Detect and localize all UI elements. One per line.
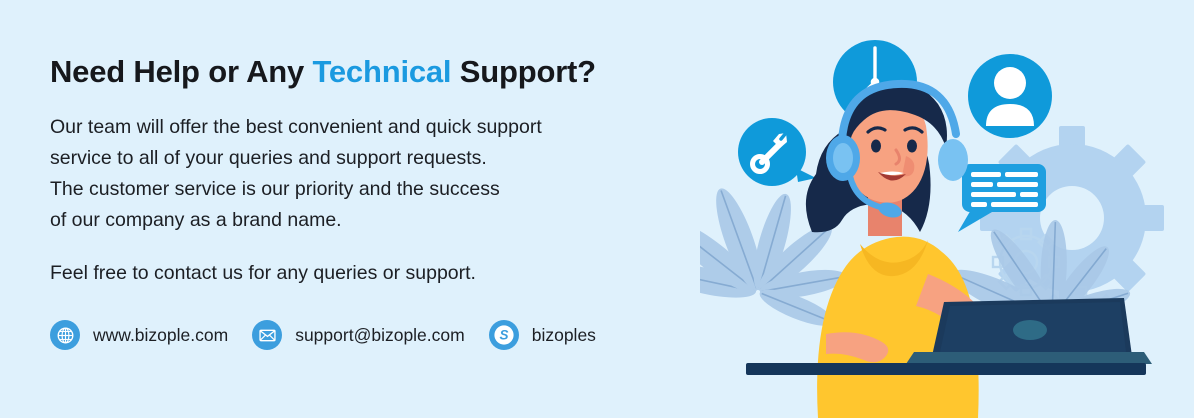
body-paragraph: Our team will offer the best convenient … (50, 112, 750, 236)
contact-skype[interactable]: S bizoples (489, 320, 596, 350)
text-column: Need Help or Any Technical Support? Our … (50, 54, 750, 285)
headline-part-2: Support? (451, 54, 596, 89)
contact-row: www.bizople.com support@bizople.com S bi… (50, 320, 620, 350)
page-title: Need Help or Any Technical Support? (50, 54, 750, 90)
body-line-2: service to all of your queries and suppo… (50, 143, 750, 174)
contact-website-label: www.bizople.com (93, 325, 228, 346)
closing-line: Feel free to contact us for any queries … (50, 262, 750, 285)
svg-text:S: S (499, 328, 508, 343)
body-line-1: Our team will offer the best convenient … (50, 112, 750, 143)
support-illustration (700, 0, 1194, 418)
email-icon (252, 320, 282, 350)
body-line-3: The customer service is our priority and… (50, 174, 750, 205)
contact-skype-label: bizoples (532, 325, 596, 346)
laptop (906, 298, 1152, 364)
headline-accent-word: Technical (312, 54, 451, 89)
contact-website[interactable]: www.bizople.com (50, 320, 228, 350)
headline-part-1: Need Help or Any (50, 54, 312, 89)
skype-icon: S (489, 320, 519, 350)
desk-surface (746, 363, 1146, 375)
body-line-4: of our company as a brand name. (50, 205, 750, 236)
wrench-bubble-icon (738, 118, 816, 186)
globe-icon (50, 320, 80, 350)
contact-email[interactable]: support@bizople.com (252, 320, 465, 350)
user-icon (968, 54, 1052, 138)
support-banner: Need Help or Any Technical Support? Our … (0, 0, 1194, 418)
contact-email-label: support@bizople.com (295, 325, 465, 346)
